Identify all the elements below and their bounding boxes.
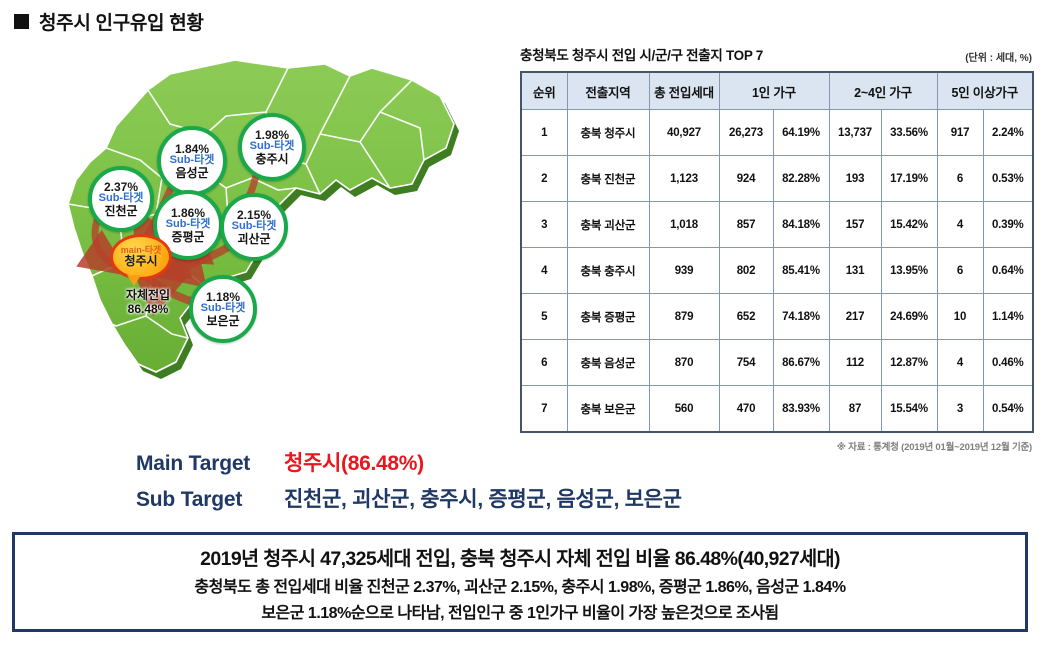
- cell-1p-pct: 83.93%: [773, 386, 829, 433]
- cell-rank: 6: [521, 340, 567, 386]
- table-row: 1충북 청주시40,92726,27364.19%13,73733.56%917…: [521, 110, 1033, 156]
- table-row: 3충북 괴산군1,01885784.18%15715.42%40.39%: [521, 202, 1033, 248]
- cell-origin: 충북 충주시: [567, 248, 649, 294]
- table-header-row: 충청북도 청주시 전입 시/군/구 전출지 TOP 7 (단위 : 세대, %): [520, 44, 1032, 64]
- filled-square-bullet-icon: [14, 14, 29, 29]
- cell-total: 560: [649, 386, 719, 433]
- bubble-region: 보은군: [206, 315, 239, 328]
- cell-24p-pct: 15.42%: [881, 202, 937, 248]
- map-bubble-main-target-cheongju[interactable]: main-타겟 청주시: [110, 234, 172, 280]
- cell-total: 870: [649, 340, 719, 386]
- cell-5p-pct: 0.54%: [983, 386, 1033, 433]
- cell-1p-pct: 86.67%: [773, 340, 829, 386]
- main-target-region: 청주시: [124, 255, 157, 268]
- table-row: 2충북 진천군1,12392482.28%19317.19%60.53%: [521, 156, 1033, 202]
- table-row: 5충북 증평군87965274.18%21724.69%101.14%: [521, 294, 1033, 340]
- bubble-region: 음성군: [175, 167, 208, 180]
- cell-1p-count: 857: [719, 202, 773, 248]
- cell-5p-count: 4: [937, 202, 983, 248]
- table-unit-note: (단위 : 세대, %): [965, 49, 1032, 64]
- bubble-region: 진천군: [104, 205, 137, 218]
- map-bubble-chungju[interactable]: 1.98% Sub-타겟 충주시: [238, 113, 306, 181]
- table-row: 7충북 보은군56047083.93%8715.54%30.54%: [521, 386, 1033, 433]
- cell-1p-count: 754: [719, 340, 773, 386]
- cell-24p-count: 87: [829, 386, 881, 433]
- cell-5p-count: 6: [937, 248, 983, 294]
- cell-24p-count: 13,737: [829, 110, 881, 156]
- cell-total: 1,018: [649, 202, 719, 248]
- callout-tail-icon: [127, 275, 141, 286]
- cell-rank: 3: [521, 202, 567, 248]
- cell-5p-pct: 2.24%: [983, 110, 1033, 156]
- cell-rank: 1: [521, 110, 567, 156]
- cell-5p-count: 6: [937, 156, 983, 202]
- cell-rank: 2: [521, 156, 567, 202]
- cell-origin: 충북 진천군: [567, 156, 649, 202]
- cell-24p-count: 157: [829, 202, 881, 248]
- table-row: 4충북 충주시93980285.41%13113.95%60.64%: [521, 248, 1033, 294]
- cell-1p-count: 470: [719, 386, 773, 433]
- cell-5p-count: 3: [937, 386, 983, 433]
- cell-total: 939: [649, 248, 719, 294]
- cell-1p-pct: 84.18%: [773, 202, 829, 248]
- main-target-value: 청주시(86.48%): [284, 447, 424, 477]
- self-inflow-value: 86.48%: [106, 302, 190, 316]
- table-panel: 충청북도 청주시 전입 시/군/구 전출지 TOP 7 (단위 : 세대, %)…: [520, 44, 1032, 453]
- bubble-region: 증평군: [171, 231, 204, 244]
- cell-5p-count: 917: [937, 110, 983, 156]
- cell-rank: 5: [521, 294, 567, 340]
- cell-origin: 충북 괴산군: [567, 202, 649, 248]
- cell-24p-count: 131: [829, 248, 881, 294]
- target-legend: Main Target 청주시(86.48%) Sub Target 진천군, …: [136, 447, 796, 519]
- cell-5p-count: 10: [937, 294, 983, 340]
- cell-1p-pct: 82.28%: [773, 156, 829, 202]
- bubble-region: 충주시: [255, 153, 288, 166]
- cell-1p-count: 802: [719, 248, 773, 294]
- main-target-label: Main Target: [136, 452, 284, 476]
- cell-1p-count: 652: [719, 294, 773, 340]
- sub-target-row: Sub Target 진천군, 괴산군, 충주시, 증평군, 음성군, 보은군: [136, 483, 796, 513]
- cell-origin: 충북 청주시: [567, 110, 649, 156]
- bubble-region: 괴산군: [237, 233, 270, 246]
- table-header: 순위 전출지역 총 전입세대 1인 가구 2~4인 가구 5인 이상가구: [521, 72, 1033, 110]
- cell-rank: 7: [521, 386, 567, 433]
- cell-5p-pct: 0.46%: [983, 340, 1033, 386]
- cell-5p-pct: 1.14%: [983, 294, 1033, 340]
- cell-1p-count: 26,273: [719, 110, 773, 156]
- cell-5p-pct: 0.64%: [983, 248, 1033, 294]
- col-origin: 전출지역: [567, 72, 649, 110]
- cell-5p-count: 4: [937, 340, 983, 386]
- col-rank: 순위: [521, 72, 567, 110]
- cell-total: 40,927: [649, 110, 719, 156]
- table-body: 1충북 청주시40,92726,27364.19%13,73733.56%917…: [521, 110, 1033, 433]
- cell-24p-pct: 12.87%: [881, 340, 937, 386]
- col-total: 총 전입세대: [649, 72, 719, 110]
- cell-rank: 4: [521, 248, 567, 294]
- page-title: 청주시 인구유입 현황: [14, 8, 204, 35]
- cell-24p-count: 193: [829, 156, 881, 202]
- cell-24p-pct: 33.56%: [881, 110, 937, 156]
- inflow-origin-table: 순위 전출지역 총 전입세대 1인 가구 2~4인 가구 5인 이상가구 1충북…: [520, 71, 1034, 433]
- cell-total: 879: [649, 294, 719, 340]
- cell-origin: 충북 보은군: [567, 386, 649, 433]
- cell-24p-pct: 17.19%: [881, 156, 937, 202]
- cell-1p-pct: 85.41%: [773, 248, 829, 294]
- cell-5p-pct: 0.53%: [983, 156, 1033, 202]
- cell-24p-count: 217: [829, 294, 881, 340]
- summary-line-2: 충청북도 총 전입세대 비율 진천군 2.37%, 괴산군 2.15%, 충주시…: [194, 573, 845, 597]
- map-panel: 2.37% Sub-타겟 진천군 1.84% Sub-타겟 음성군 1.98% …: [20, 38, 490, 438]
- self-inflow-label: 자체전입: [106, 288, 190, 302]
- cell-1p-pct: 64.19%: [773, 110, 829, 156]
- cell-1p-count: 924: [719, 156, 773, 202]
- cell-origin: 충북 증평군: [567, 294, 649, 340]
- cell-1p-pct: 74.18%: [773, 294, 829, 340]
- table-source-note: ※ 자료 : 통계청 (2019년 01월~2019년 12월 기준): [520, 439, 1032, 453]
- map-bubble-boeun[interactable]: 1.18% Sub-타겟 보은군: [189, 275, 257, 343]
- map-bubble-goesan[interactable]: 2.15% Sub-타겟 괴산군: [220, 193, 288, 261]
- col-two-to-four-person-household: 2~4인 가구: [829, 72, 937, 110]
- cell-total: 1,123: [649, 156, 719, 202]
- cell-origin: 충북 음성군: [567, 340, 649, 386]
- sub-target-value: 진천군, 괴산군, 충주시, 증평군, 음성군, 보은군: [284, 483, 682, 513]
- cell-24p-count: 112: [829, 340, 881, 386]
- map-bubble-jincheon[interactable]: 2.37% Sub-타겟 진천군: [88, 166, 154, 232]
- col-one-person-household: 1인 가구: [719, 72, 829, 110]
- cell-24p-pct: 15.54%: [881, 386, 937, 433]
- summary-line-1: 2019년 청주시 47,325세대 전입, 충북 청주시 자체 전입 비율 8…: [200, 542, 840, 571]
- summary-line-3: 보은군 1.18%순으로 나타남, 전입인구 중 1인가구 비율이 가장 높은것…: [261, 599, 778, 623]
- cell-24p-pct: 24.69%: [881, 294, 937, 340]
- table-title: 충청북도 청주시 전입 시/군/구 전출지 TOP 7: [520, 44, 763, 64]
- cell-5p-pct: 0.39%: [983, 202, 1033, 248]
- self-inflow-annotation: 자체전입 86.48%: [106, 288, 190, 317]
- sub-target-label: Sub Target: [136, 488, 284, 512]
- map-bubble-eumseong[interactable]: 1.84% Sub-타겟 음성군: [157, 126, 227, 196]
- table-row: 6충북 음성군87075486.67%11212.87%40.46%: [521, 340, 1033, 386]
- page-title-text: 청주시 인구유입 현황: [39, 8, 204, 35]
- col-five-plus-person-household: 5인 이상가구: [937, 72, 1033, 110]
- summary-box: 2019년 청주시 47,325세대 전입, 충북 청주시 자체 전입 비율 8…: [12, 532, 1028, 632]
- cell-24p-pct: 13.95%: [881, 248, 937, 294]
